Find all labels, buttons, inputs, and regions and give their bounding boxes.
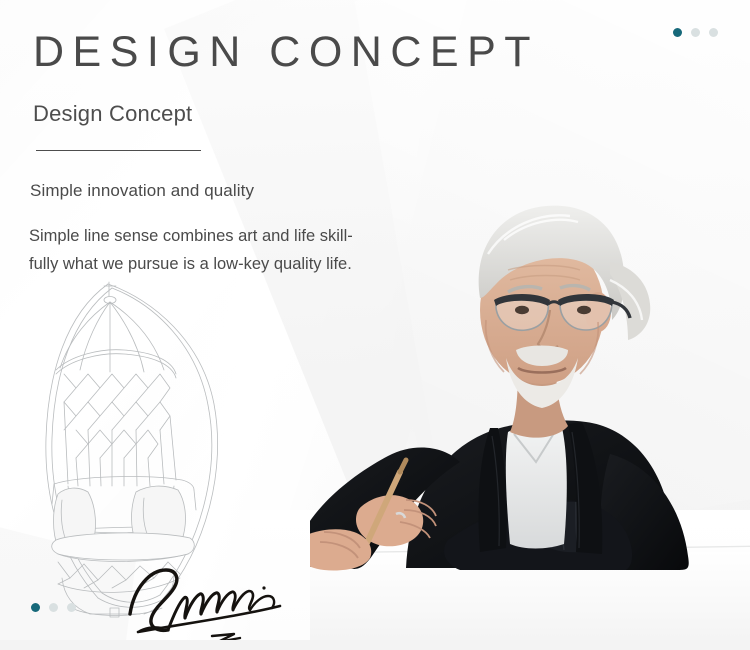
bottom-strip: [0, 640, 750, 650]
designer-portrait-photo: [310, 170, 750, 640]
pagination-dot-2[interactable]: [49, 603, 58, 612]
design-concept-page: DESIGN CONCEPT Design Concept Simple inn…: [0, 0, 750, 650]
pagination-dots-top-right[interactable]: [673, 28, 718, 37]
pagination-dot-1[interactable]: [31, 603, 40, 612]
pagination-dot-1[interactable]: [673, 28, 682, 37]
pagination-dot-3[interactable]: [709, 28, 718, 37]
pagination-dot-2[interactable]: [691, 28, 700, 37]
pagination-dots-bottom-left[interactable]: [31, 603, 76, 612]
title-divider: [36, 150, 201, 151]
pagination-dot-3[interactable]: [67, 603, 76, 612]
designer-signature: [112, 558, 322, 648]
page-title: DESIGN CONCEPT: [33, 28, 539, 77]
page-subtitle: Design Concept: [33, 101, 192, 127]
lead-text: Simple innovation and quality: [30, 181, 254, 201]
